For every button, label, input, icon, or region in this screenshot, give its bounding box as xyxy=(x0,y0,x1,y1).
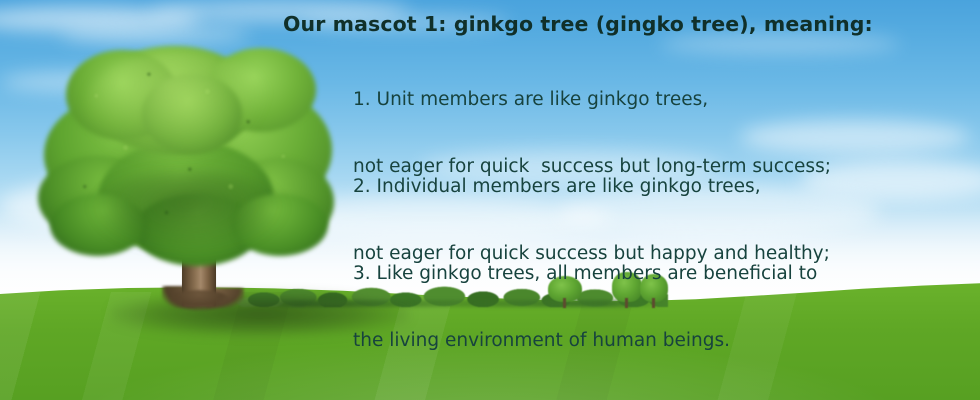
list-item-line: 3. Like ginkgo trees, all members are be… xyxy=(353,259,817,288)
list-item-line: 2. Individual members are like ginkgo tr… xyxy=(353,172,830,201)
list-item-line: the living environment of human beings. xyxy=(353,326,817,355)
list-item-line: 1. Unit members are like ginkgo trees, xyxy=(353,85,831,114)
text-content: Our mascot 1: ginkgo tree (gingko tree),… xyxy=(0,0,980,300)
page-title: Our mascot 1: ginkgo tree (gingko tree),… xyxy=(283,12,873,36)
mascot-banner: Our mascot 1: ginkgo tree (gingko tree),… xyxy=(0,0,980,400)
list-item: 3. Like ginkgo trees, all members are be… xyxy=(353,221,817,393)
